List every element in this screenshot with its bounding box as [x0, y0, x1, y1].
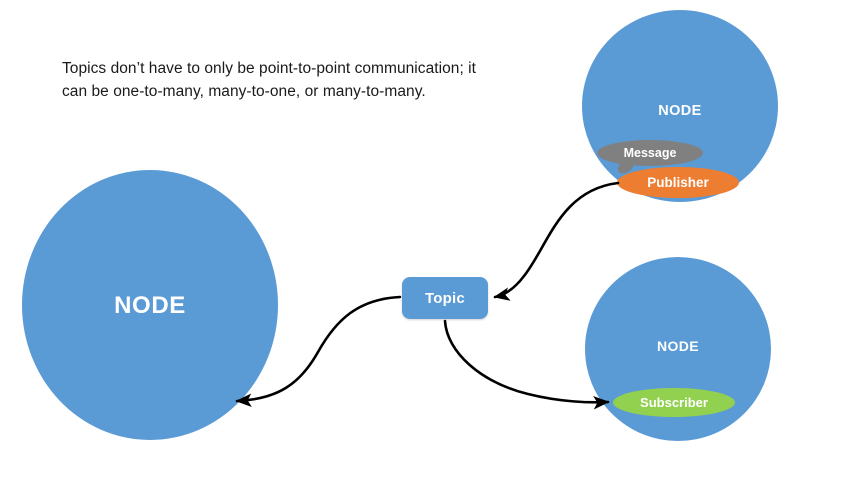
topic-box[interactable]: Topic [402, 277, 488, 319]
caption-line-2: can be one-to-many, many-to-one, or many… [62, 81, 482, 104]
caption-line-1: Topics don’t have to only be point-to-po… [62, 58, 482, 81]
message-badge[interactable]: Message [597, 140, 703, 166]
publisher-badge[interactable]: Publisher [617, 167, 739, 198]
node-bottom-right-label: NODE [585, 338, 771, 354]
node-left[interactable]: NODE Subscriber [22, 170, 278, 440]
arrow-publisher-to-topic [495, 183, 618, 297]
diagram-canvas: Topics don’t have to only be point-to-po… [0, 0, 854, 480]
subscriber-badge-bottom-right[interactable]: Subscriber [613, 388, 735, 417]
arrow-topic-to-bottom-right-subscriber [445, 321, 608, 402]
node-top-right-label: NODE [582, 103, 778, 119]
caption-text: Topics don’t have to only be point-to-po… [62, 58, 482, 104]
node-left-label: NODE [22, 292, 278, 320]
